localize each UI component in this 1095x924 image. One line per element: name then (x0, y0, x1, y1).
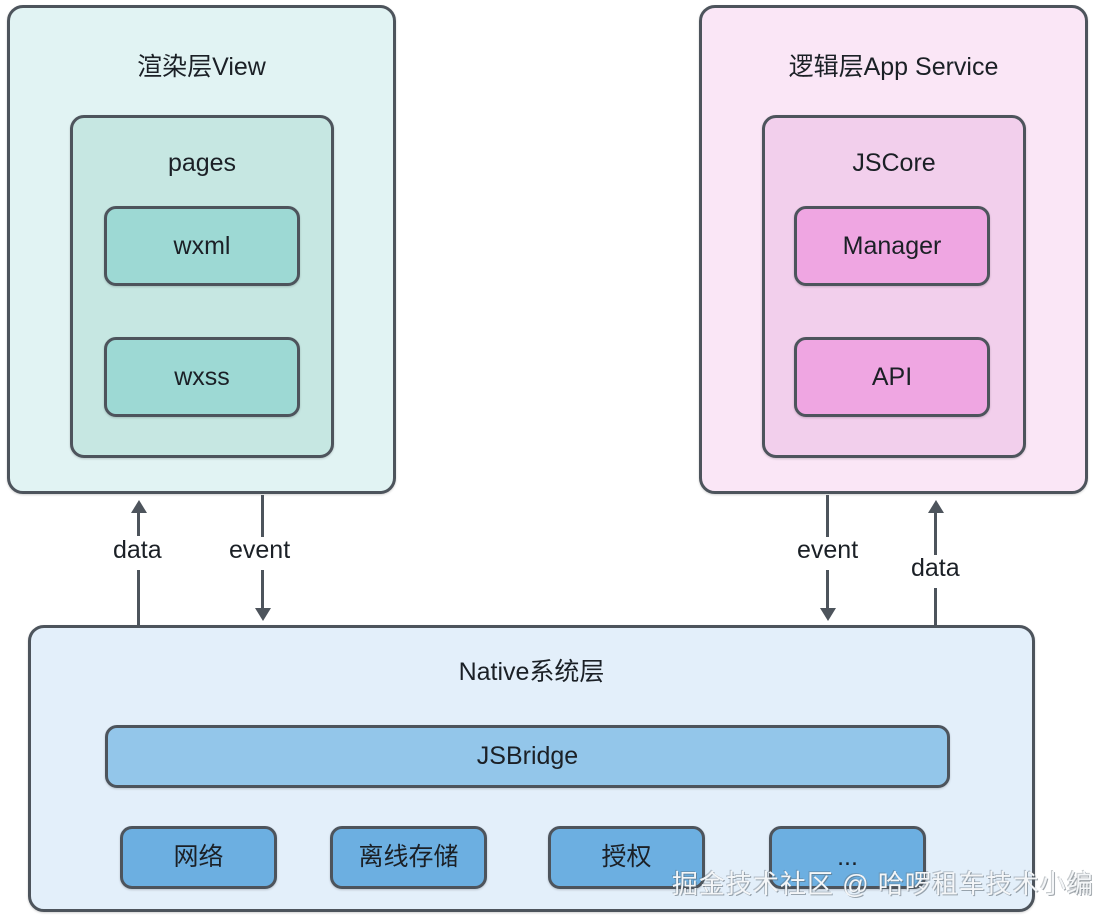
connector-label-data-left: data (113, 538, 162, 563)
connector-line (261, 495, 264, 537)
jsbridge-label: JSBridge (108, 744, 947, 769)
arrow-head-up-icon (928, 500, 944, 513)
arrow-head-up-icon (131, 500, 147, 513)
connector-line (261, 570, 264, 608)
connector-line (826, 495, 829, 537)
native-module-label: 授权 (551, 845, 702, 870)
arrow-head-down-icon (255, 608, 271, 621)
native-module-label: ... (772, 845, 923, 870)
wxml-node[interactable]: wxml (104, 206, 300, 286)
native-module-network[interactable]: 网络 (120, 826, 277, 889)
wxss-node[interactable]: wxss (104, 337, 300, 417)
native-module-authorization[interactable]: 授权 (548, 826, 705, 889)
jscore-group-title: JSCore (765, 118, 1023, 176)
jsbridge-node[interactable]: JSBridge (105, 725, 950, 788)
manager-label: Manager (797, 234, 987, 259)
manager-node[interactable]: Manager (794, 206, 990, 286)
api-node[interactable]: API (794, 337, 990, 417)
api-label: API (797, 365, 987, 390)
wxml-label: wxml (107, 234, 297, 259)
app-service-layer-title: 逻辑层App Service (702, 8, 1085, 80)
pages-group-title: pages (73, 118, 331, 176)
connector-line (934, 513, 937, 555)
connector-line (826, 570, 829, 608)
connector-label-event-right: event (797, 538, 858, 563)
arrow-head-down-icon (820, 608, 836, 621)
native-layer-title: Native系统层 (31, 628, 1032, 685)
connector-line (137, 570, 140, 626)
native-module-label: 离线存储 (333, 845, 484, 870)
wxss-label: wxss (107, 365, 297, 390)
connector-line (137, 513, 140, 536)
native-module-offline-storage[interactable]: 离线存储 (330, 826, 487, 889)
native-module-label: 网络 (123, 845, 274, 870)
native-module-more[interactable]: ... (769, 826, 926, 889)
connector-label-data-right: data (911, 556, 960, 581)
view-layer-title: 渲染层View (10, 8, 393, 80)
architecture-diagram: 渲染层View pages wxml wxss 逻辑层App Service J… (0, 0, 1095, 924)
connector-label-event-left: event (229, 538, 290, 563)
connector-line (934, 588, 937, 626)
